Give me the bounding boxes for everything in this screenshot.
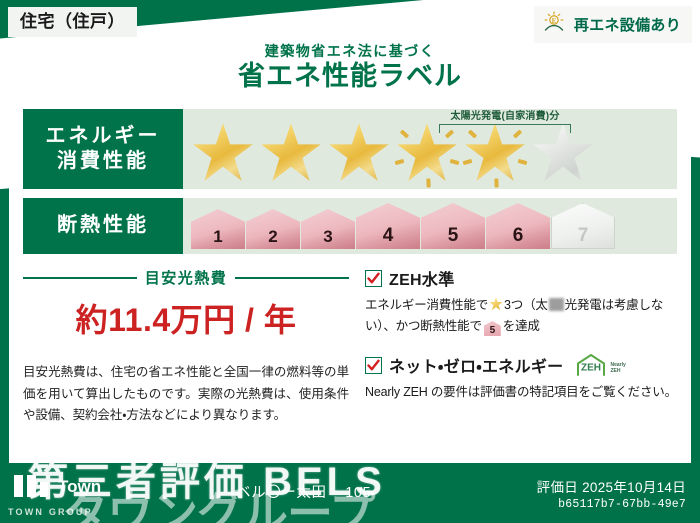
insulation-grade-value: 7 bbox=[578, 226, 589, 245]
evaluation-date-label: 評価日 bbox=[537, 480, 578, 495]
criterion-zeh-standard-header: ZEH水準 bbox=[365, 266, 677, 290]
star-filled-2 bbox=[257, 120, 325, 186]
evaluation-date: 評価日 2025年10月14日 bbox=[537, 476, 686, 496]
insulation-grade-5: 5 bbox=[421, 203, 485, 249]
criteria-column: ZEH水準 エネルギー消費性能で3つ（太光発電は考慮しない）、かつ断熱性能で5を… bbox=[359, 265, 677, 429]
insulation-performance-label: 断熱性能 bbox=[23, 198, 183, 254]
checkbox-checked-icon bbox=[365, 357, 382, 374]
utility-cost-heading: 目安光熱費 bbox=[23, 267, 349, 288]
label-title-subtitle: 建築物省エネ法に基づく bbox=[0, 44, 700, 59]
insulation-grade-value: 5 bbox=[448, 226, 459, 245]
label-title-block: 建築物省エネ法に基づく 省エネ性能ラベル bbox=[0, 44, 700, 94]
utility-cost-amount: 約11.4万円 / 年 bbox=[23, 304, 349, 336]
criterion-net-zero-energy-header: ネット・ゼロ・エネルギー ZEH Nearly ZEH bbox=[365, 353, 677, 377]
insulation-grade-value: 2 bbox=[268, 228, 277, 245]
sparkle-icon bbox=[450, 159, 460, 165]
sparkle-icon bbox=[426, 178, 430, 187]
energy-performance-label-line1: エネルギー bbox=[46, 124, 161, 149]
insulation-performance-rating: 1 2 3 4 5 6 bbox=[183, 198, 677, 254]
renewable-energy-badge: E 再エネ設備あり bbox=[534, 6, 692, 43]
solar-generation-annotation-text: 太陽光発電(自家消費)分 bbox=[405, 107, 605, 122]
insulation-grade-6: 6 bbox=[486, 203, 550, 249]
utility-cost-note: 目安光熱費は、住宅の省エネ性能と全国一律の燃料等の単価を用いて算出したものです。… bbox=[23, 362, 349, 427]
star-filled-3 bbox=[325, 120, 393, 186]
evaluation-date-value: 2025年10月14日 bbox=[582, 480, 686, 495]
energy-performance-label-line2: 消費性能 bbox=[57, 149, 149, 174]
insulation-grade-4: 4 bbox=[356, 203, 420, 249]
star-icon bbox=[260, 122, 322, 184]
solar-generation-annotation: 太陽光発電(自家消費)分 bbox=[405, 107, 605, 133]
utility-cost-heading-text: 目安光熱費 bbox=[145, 267, 228, 288]
insulation-performance-row: 断熱性能 1 2 3 4 5 bbox=[23, 198, 677, 254]
insulation-grade-scale: 1 2 3 4 5 6 bbox=[189, 203, 615, 249]
solar-generation-bracket bbox=[439, 124, 571, 133]
criterion-zeh-standard-body: エネルギー消費性能で3つ（太光発電は考慮しない）、かつ断熱性能で5を達成 bbox=[365, 295, 677, 337]
label-title-main: 省エネ性能ラベル bbox=[0, 60, 700, 94]
energy-performance-rating: 太陽光発電(自家消費)分 bbox=[183, 109, 677, 189]
heading-rule-right bbox=[235, 277, 349, 279]
insulation-grade-1: 1 bbox=[191, 209, 245, 249]
energy-performance-label: エネルギー 消費性能 bbox=[23, 109, 183, 189]
criterion-text-part4: を達成 bbox=[503, 319, 540, 333]
town-group-logo: Town TOWN GROUP bbox=[8, 471, 194, 517]
checkbox-checked-icon bbox=[365, 270, 382, 287]
insulation-grade-value: 3 bbox=[323, 228, 332, 245]
solar-sun-icon: E bbox=[543, 11, 567, 38]
criterion-net-zero-energy-title: ネット・ゼロ・エネルギー bbox=[389, 353, 563, 377]
criterion-net-zero-energy-body: Nearly ZEH の要件は評価書の特記項目をご覧ください。 bbox=[365, 382, 677, 403]
energy-performance-row: エネルギー 消費性能 太陽光発電(自家消費)分 bbox=[23, 109, 677, 189]
insulation-grade-value: 4 bbox=[383, 226, 394, 245]
utility-cost-column: 目安光熱費 約11.4万円 / 年 目安光熱費は、住宅の省エネ性能と全国一律の燃… bbox=[23, 265, 359, 429]
label-body-panel: エネルギー 消費性能 太陽光発電(自家消費)分 bbox=[9, 97, 691, 463]
insulation-grade-3: 3 bbox=[301, 209, 355, 249]
zeh-logo-subtext-line2: ZEH bbox=[610, 368, 620, 374]
sparkle-icon bbox=[463, 159, 473, 165]
evaluation-info: 評価日 2025年10月14日 b65117b7-67bb-49e7 bbox=[537, 476, 686, 511]
property-identification: ベル〇ー太田 105 bbox=[236, 481, 371, 502]
label-footer: Town TOWN GROUP ベル〇ー太田 105 評価日 2025年10月1… bbox=[0, 463, 700, 523]
svg-text:E: E bbox=[552, 17, 557, 25]
svg-text:Town: Town bbox=[58, 477, 101, 496]
energy-performance-label: 住宅（住戸） E 再エネ設備あり 建築物省エネ法に基づく 省エネ性能ラベル bbox=[0, 0, 700, 523]
label-header: 住宅（住戸） E 再エネ設備あり 建築物省エネ法に基づく 省エネ性能ラベル bbox=[0, 0, 700, 100]
insulation-grade-value: 1 bbox=[213, 228, 222, 245]
star-filled-1 bbox=[189, 120, 257, 186]
zeh-house-logo: ZEH Nearly ZEH bbox=[574, 353, 625, 377]
heading-rule-left bbox=[23, 277, 137, 279]
sparkle-icon bbox=[494, 178, 498, 187]
property-unit-number: 105 bbox=[345, 485, 371, 501]
redacted-text-mask bbox=[549, 298, 564, 311]
label-lower-section: 目安光熱費 約11.4万円 / 年 目安光熱費は、住宅の省エネ性能と全国一律の燃… bbox=[23, 265, 677, 429]
property-name: ベル〇ー太田 bbox=[236, 485, 327, 501]
criterion-text-part2: 3つ（太 bbox=[504, 298, 548, 312]
insulation-grade-value: 6 bbox=[513, 226, 524, 245]
insulation-grade-7: 7 bbox=[551, 203, 615, 249]
town-group-name: TOWN GROUP bbox=[8, 507, 194, 517]
star-icon bbox=[192, 122, 254, 184]
insulation-grade-badge-inline: 5 bbox=[484, 321, 501, 336]
renewable-energy-badge-label: 再エネ設備あり bbox=[574, 14, 681, 35]
svg-text:ZEH: ZEH bbox=[581, 363, 601, 374]
housing-type-badge: 住宅（住戸） bbox=[8, 7, 137, 37]
sparkle-icon bbox=[395, 159, 405, 165]
criterion-zeh-standard: ZEH水準 エネルギー消費性能で3つ（太光発電は考慮しない）、かつ断熱性能で5を… bbox=[365, 266, 677, 337]
criterion-net-zero-energy: ネット・ゼロ・エネルギー ZEH Nearly ZEH bbox=[365, 353, 677, 403]
insulation-grade-2: 2 bbox=[246, 209, 300, 249]
star-icon bbox=[489, 297, 503, 311]
evaluation-id: b65117b7-67bb-49e7 bbox=[537, 498, 686, 511]
criterion-zeh-standard-title: ZEH水準 bbox=[389, 266, 455, 290]
star-icon bbox=[328, 122, 390, 184]
zeh-logo-subtext: Nearly ZEH bbox=[610, 363, 625, 377]
sparkle-icon bbox=[518, 159, 528, 165]
criterion-text-part1: エネルギー消費性能で bbox=[365, 298, 488, 312]
